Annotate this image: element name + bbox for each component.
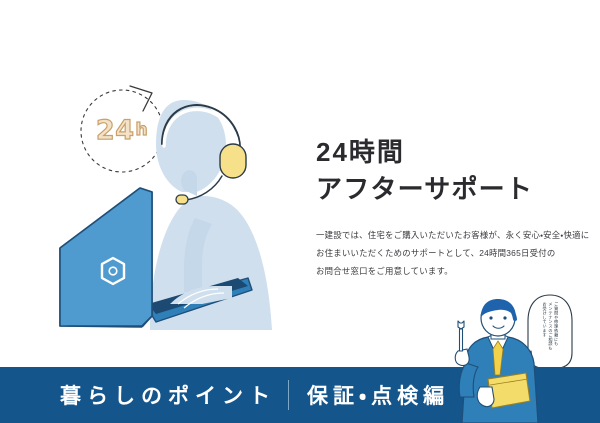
headline-line-1: 24時間 bbox=[316, 137, 405, 167]
body-line-2: お住まいいただくためのサポートとして、24時間365日受付の bbox=[316, 244, 566, 262]
staff-hand-lower bbox=[477, 387, 494, 407]
banner-subtitle: 保証・点検編 bbox=[307, 380, 449, 410]
staff-eye-right bbox=[503, 316, 506, 319]
laptop-lid-face bbox=[60, 188, 152, 326]
body-copy: 一建設では、住宅をご購入いただいたお客様が、永く安心・安全・快適に お住まいいた… bbox=[316, 226, 566, 280]
body-line-3: お問合せ窓口をご用意しています。 bbox=[316, 262, 566, 280]
headset-earcup-icon bbox=[220, 144, 246, 178]
body-line-1: 一建設では、住宅をご購入いただいたお客様が、永く安心・安全・快適に bbox=[316, 226, 566, 244]
poster-root: 24h bbox=[0, 0, 600, 423]
headline: 24時間 アフターサポート bbox=[316, 134, 566, 208]
banner-title: 暮らしのポイント bbox=[60, 380, 276, 410]
banner-content: 暮らしのポイント 保証・点検編 bbox=[60, 380, 449, 410]
staff-illustration bbox=[448, 301, 544, 423]
banner-divider bbox=[288, 380, 289, 410]
laptop-illustration bbox=[52, 186, 252, 334]
bubble-line-1: ご質問や修理依頼にも bbox=[553, 302, 558, 346]
headline-line-2: アフターサポート bbox=[316, 174, 533, 204]
badge-number: 24 bbox=[96, 115, 135, 146]
staff-eye-left bbox=[489, 316, 492, 319]
wrench-icon bbox=[458, 321, 464, 351]
bubble-line-2: メンテナンスのご相談も bbox=[548, 302, 553, 350]
copy-block: 24時間 アフターサポート 一建設では、住宅をご購入いただいたお客様が、永く安心… bbox=[316, 134, 566, 280]
